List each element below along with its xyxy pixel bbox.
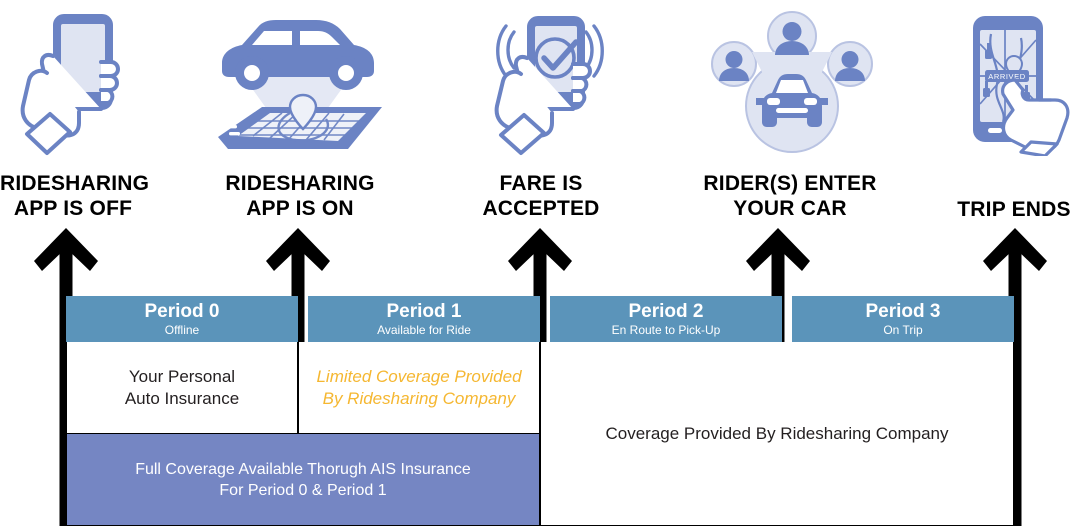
period-header-3: Period 3 On Trip — [792, 296, 1014, 342]
period-title: Period 3 — [866, 301, 941, 322]
stage-caption-line2: YOUR CAR — [688, 196, 892, 221]
arrow-up-icon — [983, 228, 1047, 274]
arrow-up-icon — [508, 228, 572, 274]
stage-caption-line2: APP IS ON — [205, 196, 395, 221]
stage-caption-line2: ACCEPTED — [466, 196, 616, 221]
coverage-cell-period-1: Limited Coverage ProvidedBy Ridesharing … — [298, 342, 540, 434]
stage-caption-line1: RIDER(S) ENTER — [688, 171, 892, 196]
hand-tapping-arrived-phone-icon: ARRIVED — [957, 10, 1075, 156]
stage-caption-trip-ends: TRIP ENDS — [948, 197, 1080, 222]
stage-icon-app-off — [6, 8, 146, 158]
period-subtitle: En Route to Pick-Up — [612, 323, 721, 337]
arrived-button-label: ARRIVED — [988, 72, 1026, 81]
stage-icon-fare-accepted — [478, 8, 622, 158]
full-coverage-text: Full Coverage Available Thorugh AIS Insu… — [135, 459, 471, 501]
period-header-0: Period 0 Offline — [66, 296, 298, 342]
period-subtitle: On Trip — [883, 323, 922, 337]
period-header-1: Period 1 Available for Ride — [308, 296, 540, 342]
arrow-up-icon — [746, 228, 810, 274]
coverage-cell-period-0: Your PersonalAuto Insurance — [66, 342, 298, 434]
period-subtitle: Offline — [165, 323, 199, 337]
coverage-cell-period-2-3: Coverage Provided By Ridesharing Company — [540, 342, 1014, 526]
stage-icon-trip-ends: ARRIVED — [952, 8, 1080, 158]
full-coverage-band: Full Coverage Available Thorugh AIS Insu… — [66, 434, 540, 526]
stage-caption-app-off: RIDESHARING APP IS OFF — [0, 171, 146, 221]
stage-icon-app-on — [196, 8, 396, 158]
riders-and-car-icon — [704, 10, 880, 156]
hand-holding-phone-check-icon — [484, 10, 616, 156]
stage-caption-line1: RIDESHARING — [205, 171, 395, 196]
period-title: Period 1 — [387, 301, 462, 322]
stage-caption-riders-enter: RIDER(S) ENTER YOUR CAR — [688, 171, 892, 221]
period-title: Period 0 — [145, 301, 220, 322]
stage-caption-line1: FARE IS — [466, 171, 616, 196]
arrow-up-icon — [266, 228, 330, 274]
stage-caption-line1: RIDESHARING — [0, 171, 146, 196]
period-header-2: Period 2 En Route to Pick-Up — [550, 296, 782, 342]
infographic-root: ARRIVED RIDESHARING APP IS OFF RIDESHARI… — [0, 0, 1080, 526]
car-over-map-phone-icon — [198, 9, 394, 157]
stage-caption-app-on: RIDESHARING APP IS ON — [205, 171, 395, 221]
coverage-timeline: Period 0 Offline Period 1 Available for … — [66, 296, 1014, 526]
arrow-up-icon — [34, 228, 98, 274]
stage-icon-riders-enter — [702, 8, 882, 158]
hand-holding-phone-off-icon — [17, 10, 135, 156]
coverage-text: Coverage Provided By Ridesharing Company — [599, 423, 954, 445]
coverage-text: Limited Coverage ProvidedBy Ridesharing … — [310, 366, 527, 410]
stage-caption-line2: APP IS OFF — [0, 196, 146, 221]
stage-caption-line1: TRIP ENDS — [948, 197, 1080, 222]
period-title: Period 2 — [629, 301, 704, 322]
period-subtitle: Available for Ride — [377, 323, 471, 337]
coverage-text: Your PersonalAuto Insurance — [119, 366, 245, 410]
stage-caption-fare-accepted: FARE IS ACCEPTED — [466, 171, 616, 221]
